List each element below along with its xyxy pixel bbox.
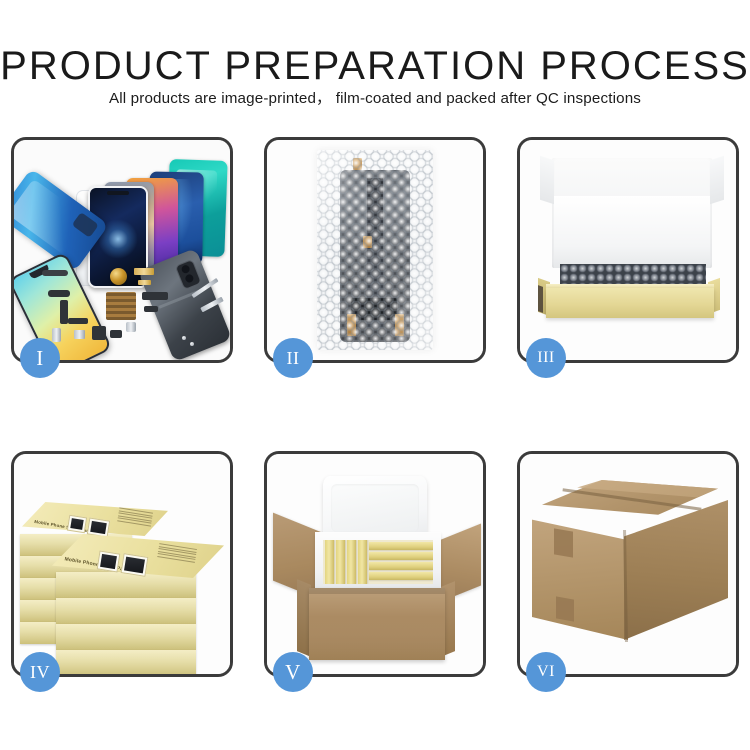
box-label-window-front-a [97,550,121,572]
step-panel-2[interactable]: II [264,137,486,363]
packed-retail-box-3 [347,540,356,584]
stacked-box-front-3 [56,624,196,650]
box-left-inner-edge [538,285,543,313]
step-panel-6[interactable]: VI [517,451,739,677]
page-title: PRODUCT PREPARATION PROCESS [0,46,750,86]
glass-notch [107,191,129,195]
carton-tape-upper [554,528,573,557]
bubble-wrap-bag [317,150,433,350]
packed-retail-box-1 [325,540,334,584]
packed-retail-box-8 [369,572,433,580]
box-label-window-rear-a [67,515,87,534]
box-front-face [546,288,714,318]
packed-retail-box-4 [358,540,367,584]
step-4-photo: Mobile Phone Spare Parts Mobile Phone Sp… [14,454,230,674]
box-label-window-front-b [121,553,149,577]
step-badge-5: V [273,652,313,692]
packed-retail-box-5 [369,542,433,550]
screw-part-a [182,336,186,340]
sim-tray-part [126,322,136,332]
foam-liner-contents [323,540,433,584]
earpiece-speaker-part [42,270,68,276]
phone-camera-module [72,212,99,238]
step-badge-4: IV [20,652,60,692]
step-5-photo [267,454,483,674]
gold-flex-connector-part [134,268,154,275]
flex-cable-part-b [60,300,68,324]
sealed-carton [532,480,728,648]
vibration-coil-part [110,268,127,285]
step-panel-5[interactable]: V [264,451,486,677]
carton-side-face [624,500,728,640]
step-panel-4[interactable]: Mobile Phone Spare Parts Mobile Phone Sp… [11,451,233,677]
step-panel-3[interactable]: III [517,137,739,363]
metal-bracket-part [74,330,85,339]
retail-box-stack: Mobile Phone Spare Parts Mobile Phone Sp… [20,476,230,672]
step-badge-1: I [20,338,60,378]
flex-cable-part-d [142,292,168,300]
stacked-box-front-2 [56,598,196,624]
antenna-part [110,330,122,338]
step-2-photo [267,140,483,360]
page-subtitle: All products are image-printed， film-coa… [0,91,750,106]
box-label-window-rear-b [87,517,110,537]
step-badge-6: VI [526,652,566,692]
packed-retail-box-2 [336,540,345,584]
step-badge-3: III [526,338,566,378]
vibrator-motor-part [92,326,106,340]
step-1-photo [14,140,230,360]
step-panel-1[interactable]: I [11,137,233,363]
box-foam-backing [554,196,710,268]
camera-lens-cluster [175,259,202,290]
flex-cable-part-a [48,290,70,297]
step-6-photo [520,454,736,674]
carton-tape-lower [556,596,574,621]
ic-chip-grid-part [106,292,136,320]
screw-part-b [190,342,194,346]
packed-retail-box-6 [369,552,433,560]
product-preparation-infographic: PRODUCT PREPARATION PROCESS All products… [0,0,750,750]
carton-front-face [532,512,628,640]
plastic-gloss-highlight [317,150,433,350]
camera-lens-part [52,328,61,342]
gold-contact-part [138,280,151,285]
stacked-box-front-4 [56,650,196,674]
carton-body-front [309,588,445,660]
packed-retail-box-7 [369,562,433,570]
process-step-grid: I II [11,137,739,677]
flex-cable-part-c [68,318,88,324]
step-badge-2: II [273,338,313,378]
flex-cable-part-e [144,306,158,312]
step-3-photo [520,140,736,360]
